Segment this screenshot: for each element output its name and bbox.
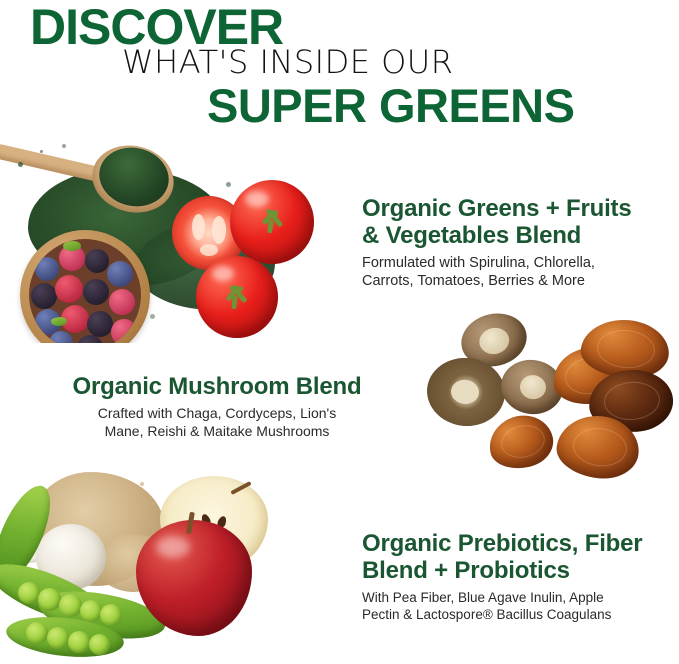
block-greens-description: Formulated with Spirulina, Chlorella, Ca… [362,254,662,291]
block-organic-mushroom: Organic Mushroom Blend Crafted with Chag… [62,374,372,440]
infographic-page: DISCOVER WHAT'S INSIDE OUR SUPER GREENS [0,0,679,664]
apple-stem [230,481,251,495]
pea [80,600,102,622]
pea [100,604,122,626]
shiitake-stem [477,325,512,357]
tomato-calyx [231,296,237,309]
powder-speck [62,144,66,148]
blackberry [31,283,57,309]
raspberry [109,289,135,315]
pea [68,631,90,653]
pea [18,582,40,604]
pea [47,627,69,649]
blueberry [107,261,133,287]
apple-highlight [156,536,190,558]
strawberry-leaf [51,317,67,326]
reishi-growth-ring [498,421,548,461]
tomato-highlight [212,266,234,281]
greens-ingredients-image [0,138,345,343]
tomato-highlight [245,191,269,207]
pea [59,594,82,617]
blackberry [87,311,113,337]
tomato-whole [196,256,278,338]
blueberry [35,257,59,281]
reishi-growth-ring [595,328,656,371]
tomato-calyx [267,220,274,234]
reishi-mushroom [484,410,557,474]
shiitake-stem [518,373,547,401]
block-mushroom-description: Crafted with Chaga, Cordyceps, Lion's Ma… [62,405,372,441]
block-prebiotics-title: Organic Prebiotics, Fiber Blend + Probio… [362,531,662,585]
block-organic-greens: Organic Greens + Fruits & Vegetables Ble… [362,196,662,291]
blackberry [85,249,109,273]
mushroom-ingredients-image [423,312,679,480]
tomato-whole [230,180,314,264]
headline-whats-inside-our: WHAT'S INSIDE OUR [122,46,453,78]
powder-speck [226,182,231,187]
pea [26,622,48,644]
blackberry [83,279,109,305]
powder-speck [150,314,155,319]
shiitake-stem [450,378,480,405]
tomato-pulp [192,214,205,240]
header: DISCOVER WHAT'S INSIDE OUR SUPER GREENS [0,0,679,136]
powder-speck [18,162,23,167]
block-greens-title: Organic Greens + Fruits & Vegetables Ble… [362,196,662,250]
pea [89,634,110,655]
blueberry [49,331,73,343]
fiber-ingredients-image [0,462,300,664]
strawberry [55,275,83,303]
powder-speck [152,502,155,505]
bowl-interior [29,239,141,343]
block-mushroom-title: Organic Mushroom Blend [62,374,372,401]
tomato-pulp [212,216,226,244]
reishi-growth-ring [571,425,629,469]
tomato-pulp [200,244,218,256]
reishi-growth-ring [603,380,662,422]
powder-speck [140,482,144,486]
raspberry [111,319,137,343]
block-prebiotics-description: With Pea Fiber, Blue Agave Inulin, Apple… [362,589,662,623]
powder-speck [40,150,43,153]
pea [38,588,61,611]
headline-super-greens: SUPER GREENS [207,82,574,129]
block-organic-prebiotics: Organic Prebiotics, Fiber Blend + Probio… [362,531,662,623]
